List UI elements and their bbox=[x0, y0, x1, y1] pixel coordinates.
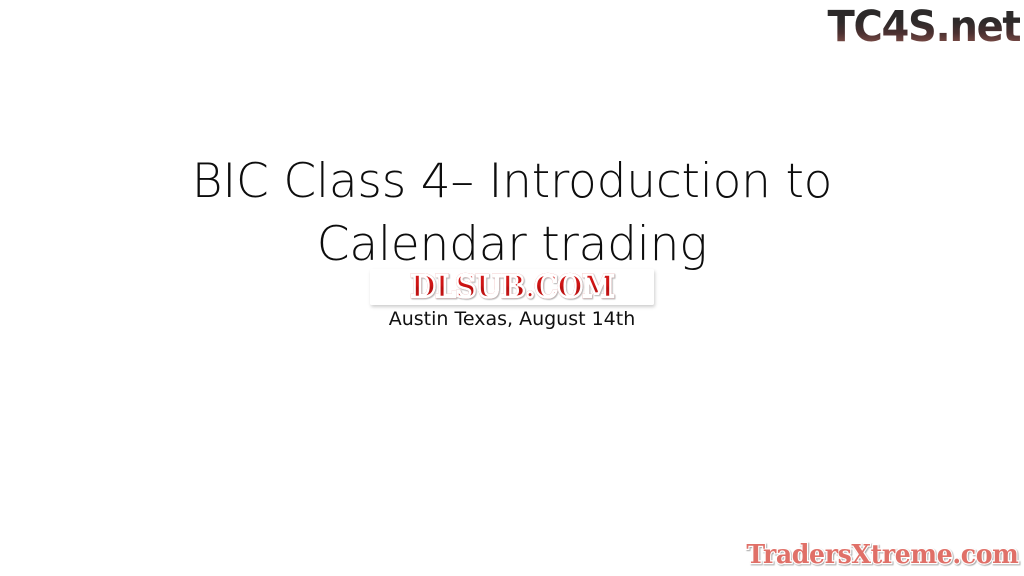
slide-subtitle: Austin Texas, August 14th bbox=[112, 306, 912, 332]
tradersxtreme-watermark-logo: TradersXtreme.com bbox=[746, 540, 1018, 570]
dlsub-watermark-label: DLSUB.COM bbox=[410, 271, 614, 304]
slide-title-block: BIC Class 4– Introduction to Calendar tr… bbox=[112, 150, 912, 276]
presentation-slide: TC4S.net BIC Class 4– Introduction to Ca… bbox=[0, 0, 1024, 576]
page-title: BIC Class 4– Introduction to Calendar tr… bbox=[112, 150, 912, 276]
tc4s-watermark-logo: TC4S.net bbox=[827, 2, 1020, 52]
dlsub-watermark: DLSUB.COM bbox=[370, 269, 654, 305]
